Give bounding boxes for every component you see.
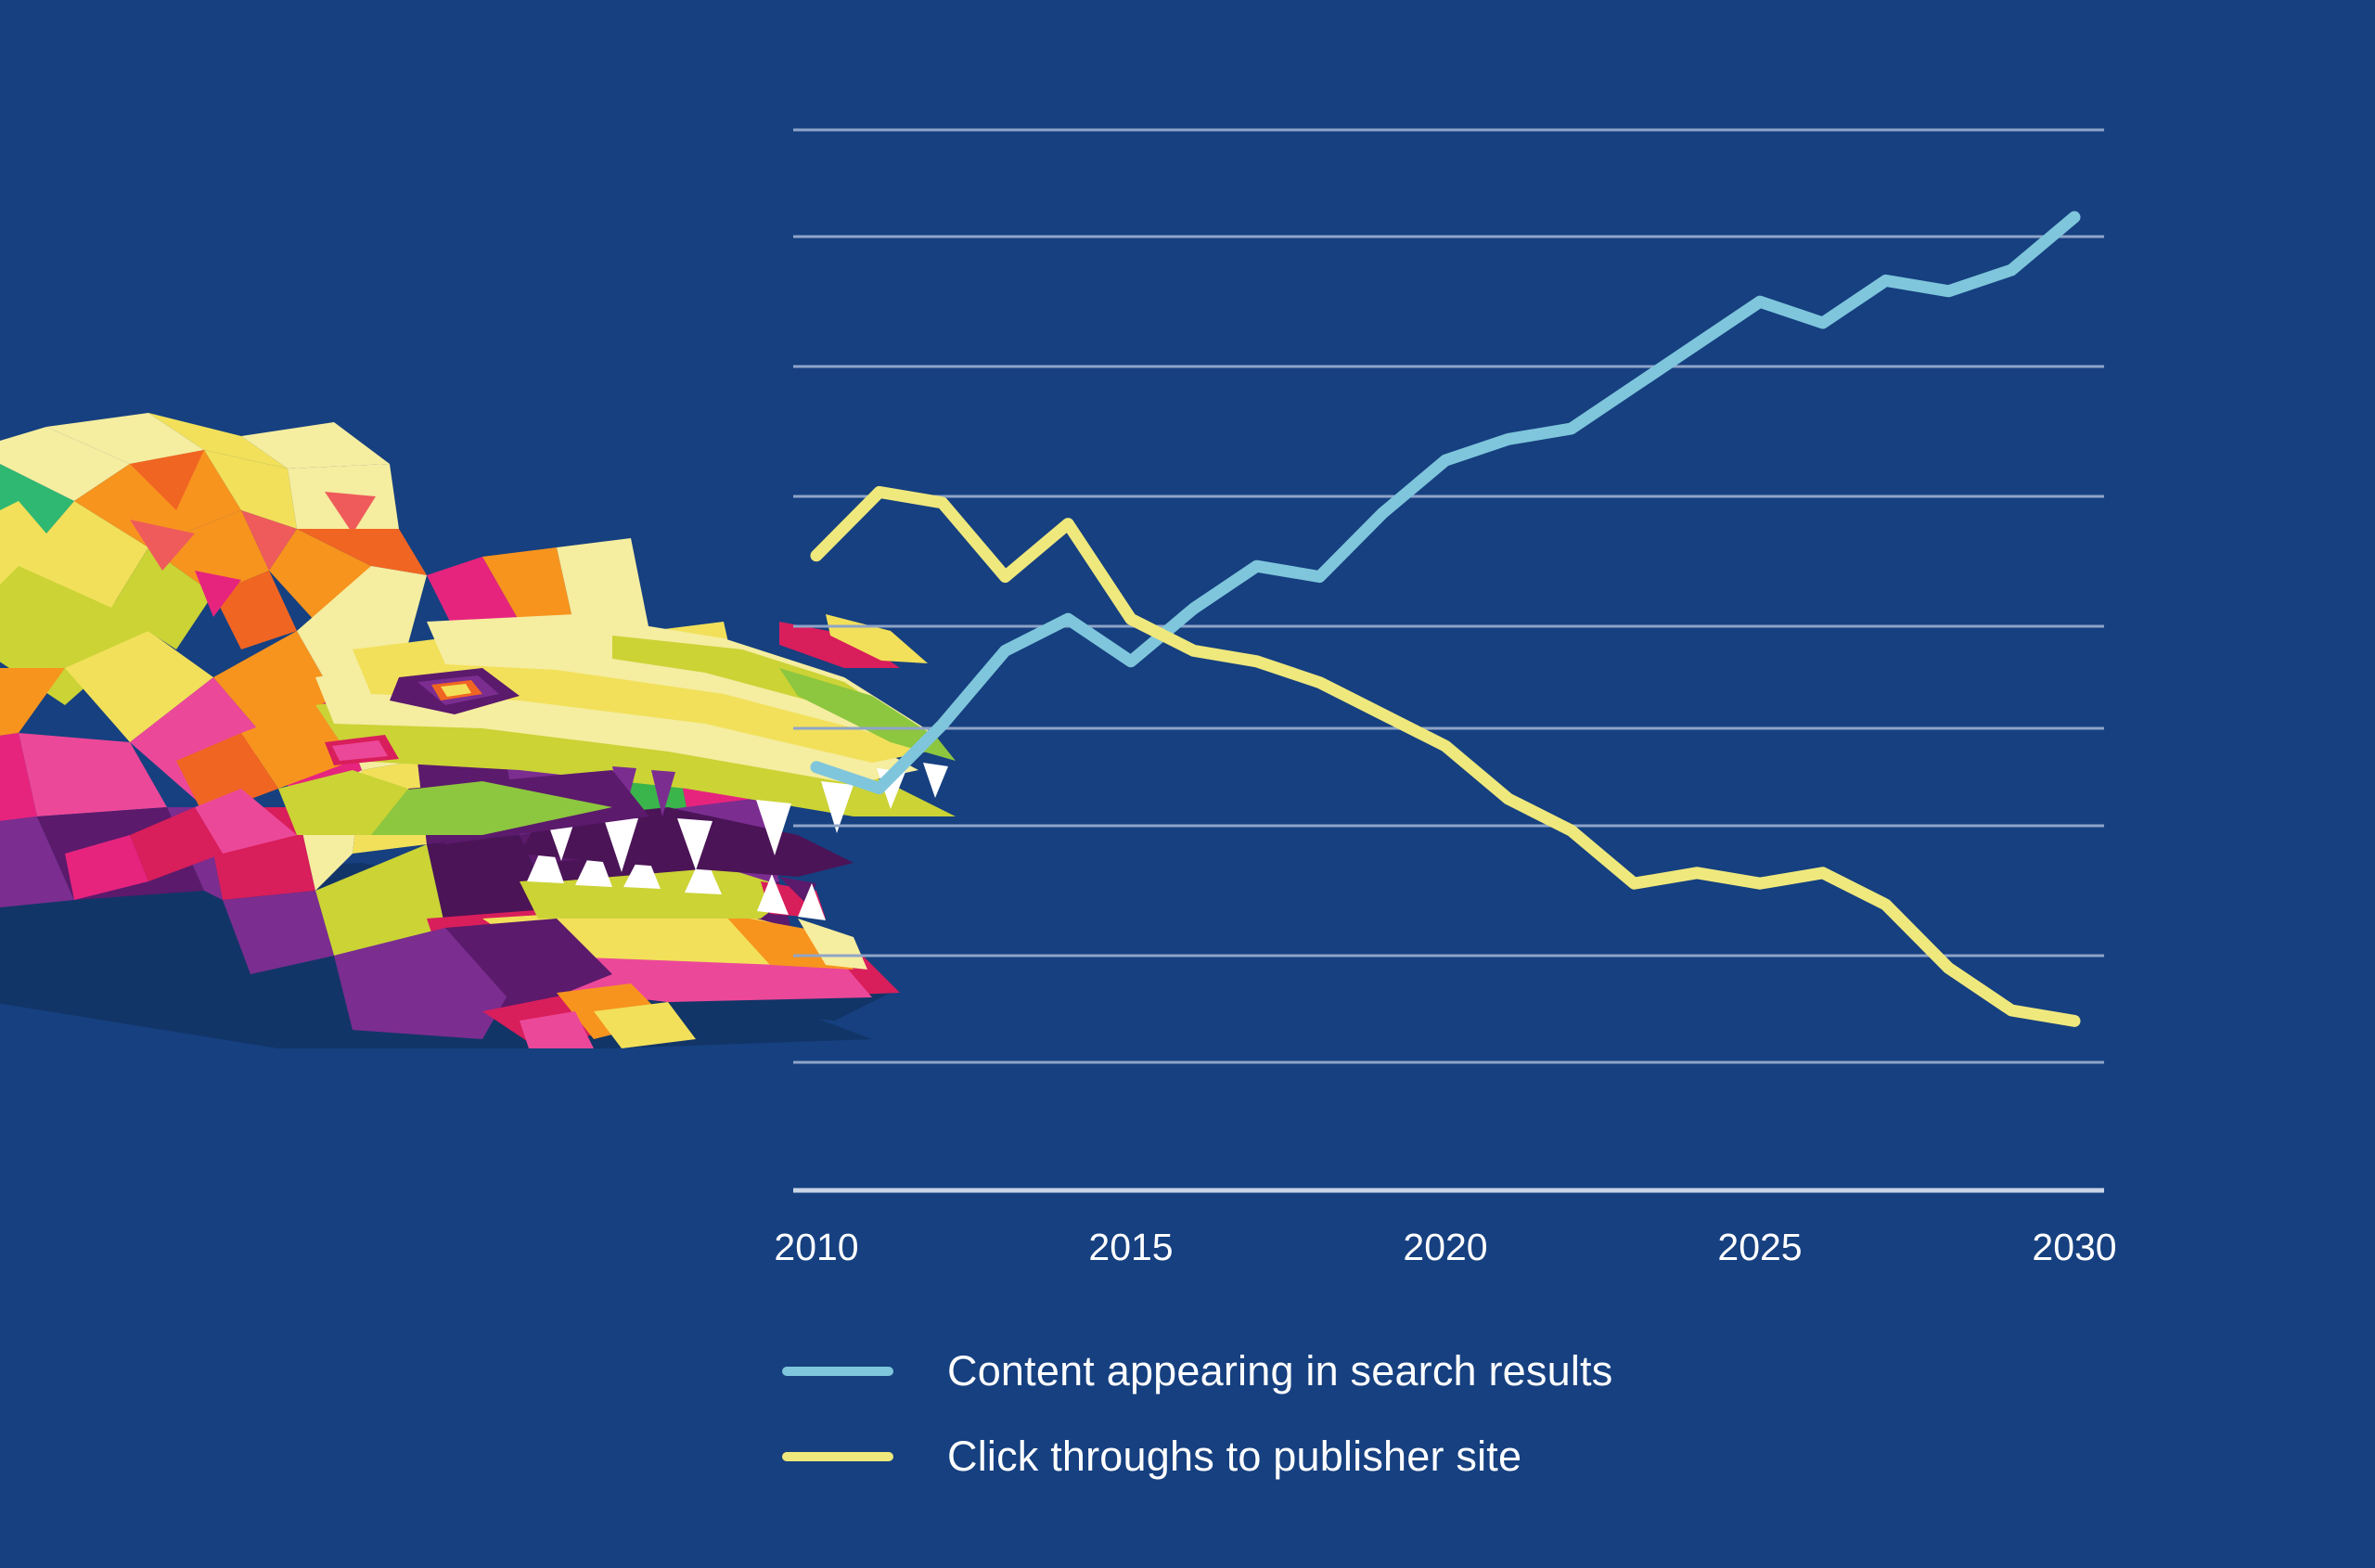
x-axis-tick-labels: 20102015202020252030 — [774, 1226, 2116, 1268]
x-tick-2025: 2025 — [1717, 1226, 1802, 1268]
legend-item-content-search[interactable]: Content appearing in search results — [782, 1329, 1710, 1414]
chart-legend: Content appearing in search results Clic… — [782, 1329, 1710, 1499]
legend-label-click-throughs: Click throughs to publisher site — [947, 1433, 1521, 1481]
legend-swatch-blue — [782, 1367, 893, 1376]
legend-item-click-throughs[interactable]: Click throughs to publisher site — [782, 1414, 1710, 1499]
legend-swatch-yellow — [782, 1452, 893, 1461]
page-root: 20102015202020252030 Content appearing i… — [0, 0, 2375, 1568]
x-tick-2020: 2020 — [1403, 1226, 1487, 1268]
x-tick-2030: 2030 — [2032, 1226, 2116, 1268]
chart-series — [816, 217, 2074, 1021]
series-line-content-search — [816, 217, 2074, 789]
x-tick-2010: 2010 — [774, 1226, 858, 1268]
series-line-click-throughs — [816, 492, 2074, 1021]
x-tick-2015: 2015 — [1088, 1226, 1173, 1268]
legend-label-content-search: Content appearing in search results — [947, 1347, 1612, 1395]
